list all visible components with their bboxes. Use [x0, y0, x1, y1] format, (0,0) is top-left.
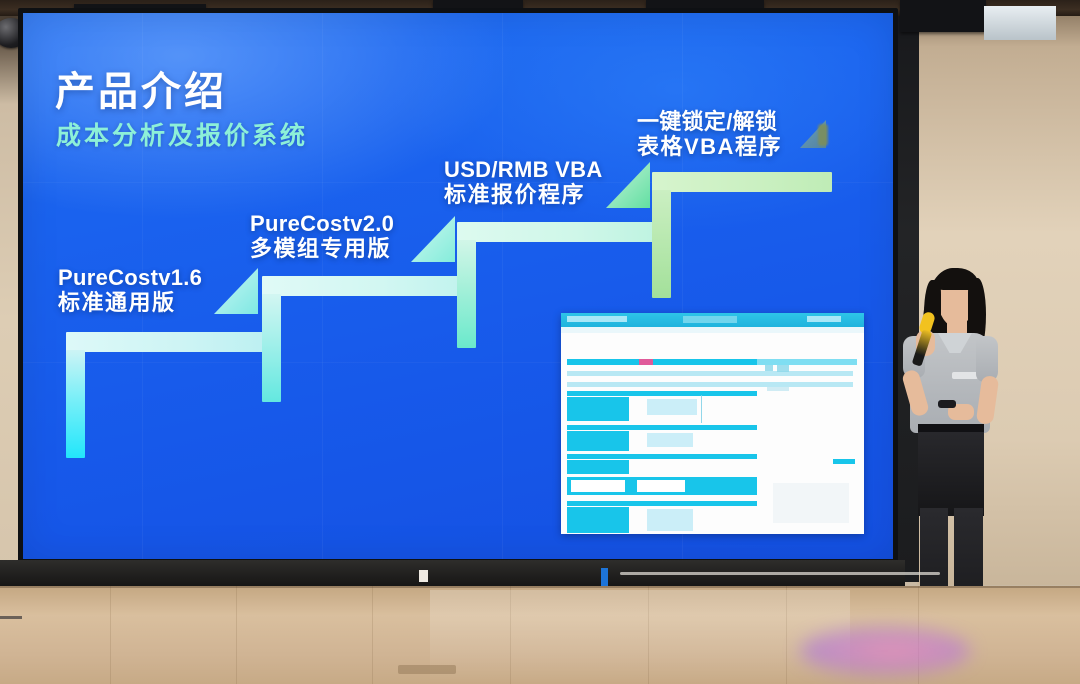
step-2-bar: [262, 276, 460, 296]
step-4-bar: [652, 172, 832, 192]
step-3-triangle: [606, 162, 650, 208]
step-3-leg: [457, 240, 476, 348]
spreadsheet-ribbon: [561, 327, 864, 333]
ceiling-panel-5: [900, 0, 986, 32]
screenshot-root: 产品介绍 成本分析及报价系统 PureCostv1.6 标准通用版 PureCo…: [0, 0, 1080, 684]
floor-blue-tape: [601, 568, 608, 586]
step-2-label-line2: 多模组专用版: [250, 237, 394, 262]
step-3-label-line1: USD/RMB VBA: [444, 158, 603, 183]
floor-cable: [620, 572, 940, 575]
spreadsheet-screenshot: [561, 313, 864, 534]
floor-seam-line: [0, 586, 1080, 588]
led-presentation-screen: 产品介绍 成本分析及报价系统 PureCostv1.6 标准通用版 PureCo…: [22, 12, 894, 560]
step-4-label-line2: 表格VBA程序: [637, 135, 782, 160]
floor-marker-tape: [419, 570, 428, 582]
step-1-triangle: [214, 268, 258, 314]
wall-dark-column: [893, 0, 919, 582]
step-1-bar: [66, 332, 264, 352]
presenter-trousers: [918, 424, 984, 516]
screen-marker-dot: [818, 124, 828, 146]
step-4-leg: [652, 190, 671, 298]
step-1-label-line2: 标准通用版: [58, 291, 202, 316]
step-3-bar: [457, 222, 655, 242]
step-2-label-line1: PureCostv2.0: [250, 212, 394, 237]
presenter-shirt-logo: [952, 372, 978, 379]
floor-vent: [398, 665, 456, 674]
ceiling-light-box-3: [984, 6, 1056, 40]
step-4-label: 一键锁定/解锁 表格VBA程序: [637, 110, 782, 159]
slide-subtitle: 成本分析及报价系统: [56, 116, 308, 152]
step-3-label: USD/RMB VBA 标准报价程序: [444, 158, 603, 207]
step-1-label-line1: PureCostv1.6: [58, 266, 202, 291]
floor-light-projection-core: [800, 628, 970, 674]
presenter-clicker: [938, 400, 956, 408]
step-4-label-line1: 一键锁定/解锁: [637, 110, 782, 135]
step-2-leg: [262, 294, 281, 402]
step-2-label: PureCostv2.0 多模组专用版: [250, 212, 394, 261]
step-3-label-line2: 标准报价程序: [444, 183, 603, 208]
chair-leg: [0, 616, 22, 619]
slide-title: 产品介绍: [55, 59, 227, 117]
step-2-triangle: [411, 216, 455, 262]
step-1-label: PureCostv1.6 标准通用版: [58, 266, 202, 315]
step-1-leg: [66, 350, 85, 458]
presenter-belt: [918, 424, 984, 432]
